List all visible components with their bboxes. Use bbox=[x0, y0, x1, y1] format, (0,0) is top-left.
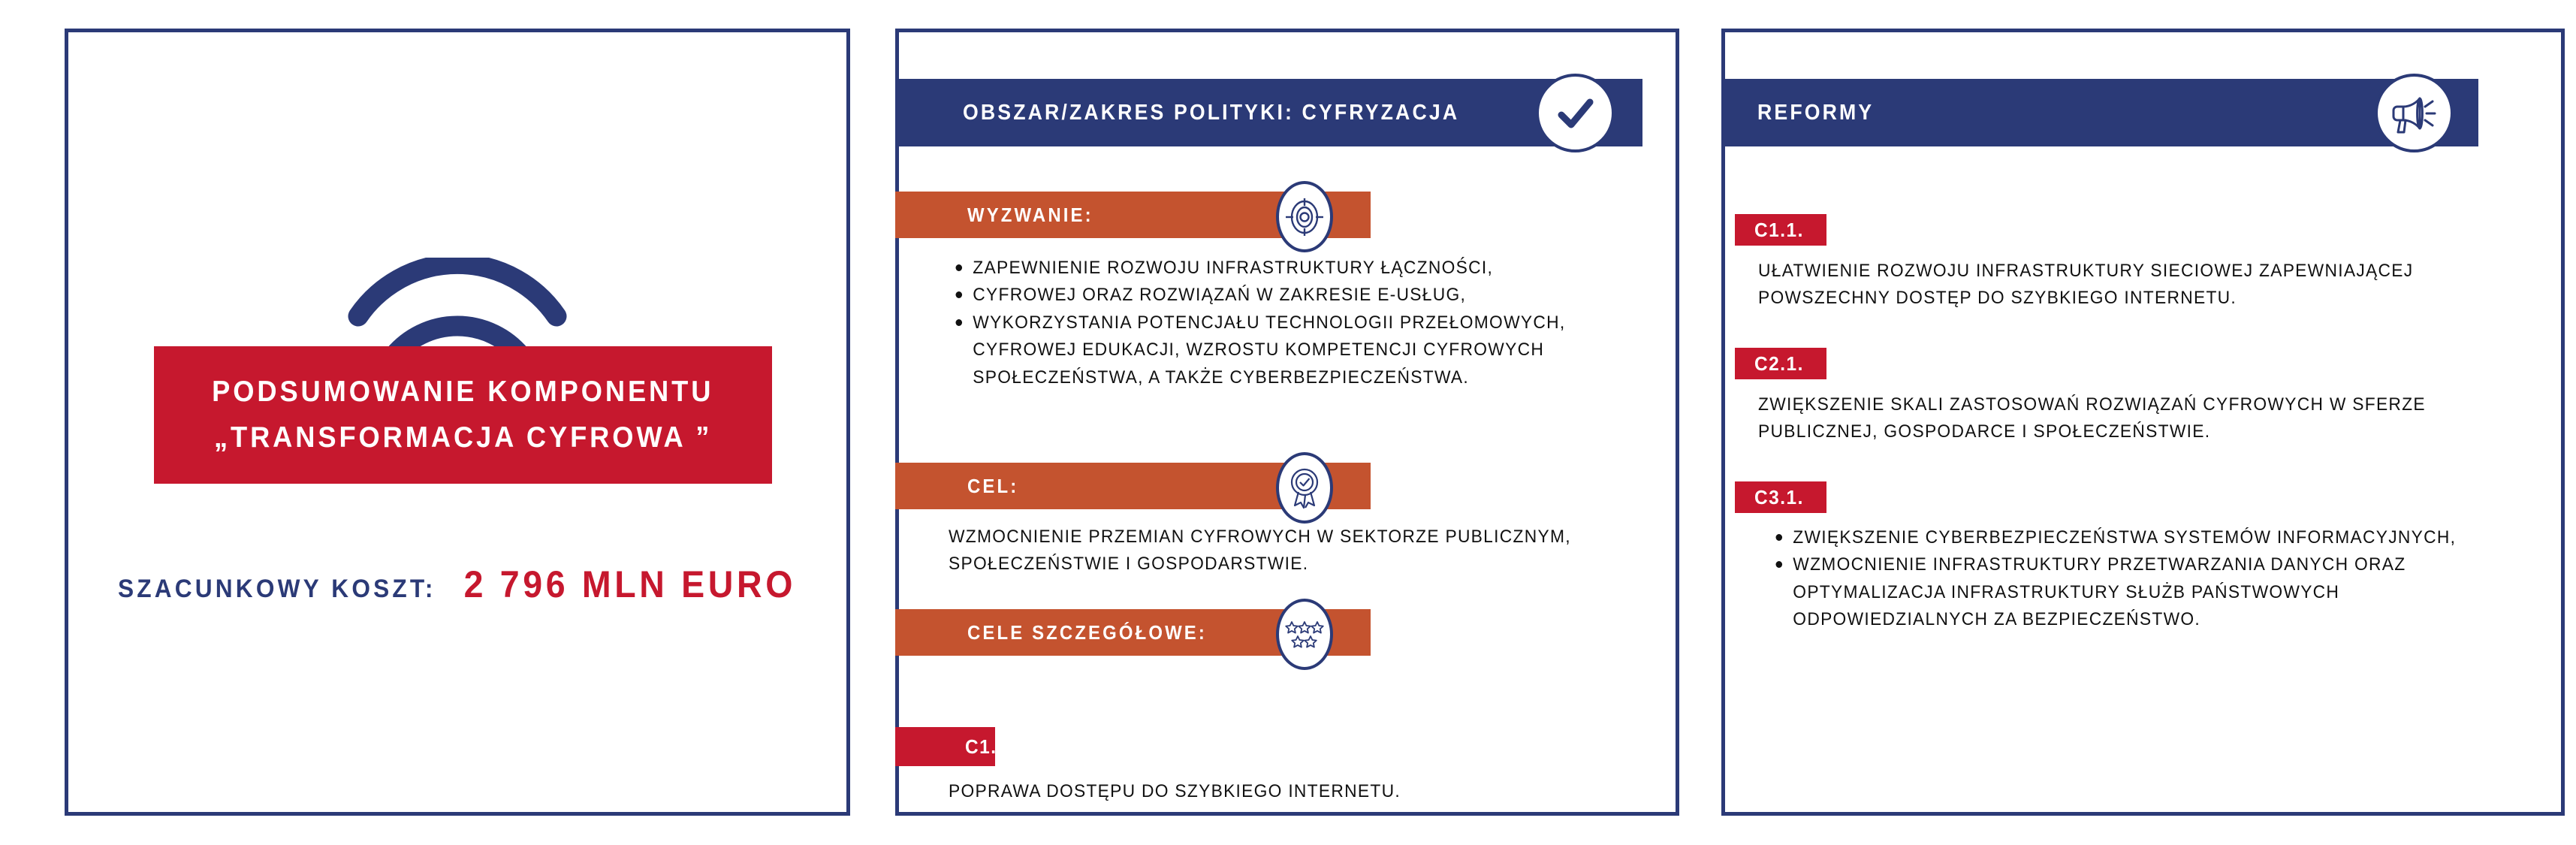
challenge-label: WYZWANIE: bbox=[967, 204, 1093, 227]
reforms-header-bar: REFORMY bbox=[1721, 79, 2478, 146]
banner-line-2: „TRANSFORMACJA CYFROWA ” bbox=[214, 415, 712, 460]
infographic-canvas: PODSUMOWANIE KOMPONENTU „TRANSFORMACJA C… bbox=[0, 0, 2576, 845]
panel-reforms: REFORMY C1.1. UŁATWIENIE ROZWOJU INFRAST… bbox=[1721, 29, 2565, 816]
reforms-header-title: REFORMY bbox=[1757, 101, 1874, 125]
checkmark-circle-icon bbox=[1536, 74, 1615, 152]
estimated-cost-block: SZACUNKOWY KOSZT: 2 796 MLN EURO bbox=[68, 555, 846, 606]
megaphone-icon bbox=[2375, 74, 2454, 152]
goal-label: CEL: bbox=[967, 475, 1018, 498]
panel-component-summary: PODSUMOWANIE KOMPONENTU „TRANSFORMACJA C… bbox=[65, 29, 850, 816]
cost-label: SZACUNKOWY KOSZT: bbox=[118, 575, 436, 604]
banner-line-1: PODSUMOWANIE KOMPONENTU bbox=[212, 370, 713, 415]
list-item: ZAPEWNIENIE ROZWOJU INFRASTRUKTURY ŁĄCZN… bbox=[973, 255, 1576, 282]
list-item: ZWIĘKSZENIE CYBERBEZPIECZEŃSTWA SYSTEMÓW… bbox=[1793, 524, 2482, 551]
list-item: WZMOCNIENIE INFRASTRUKTURY PRZETWARZANIA… bbox=[1793, 551, 2482, 633]
reform-bullets-c31: ZWIĘKSZENIE CYBERBEZPIECZEŃSTWA SYSTEMÓW… bbox=[1769, 524, 2482, 634]
reform-text-c21: ZWIĘKSZENIE SKALI ZASTOSOWAŃ ROZWIĄZAŃ C… bbox=[1758, 391, 2496, 446]
specific-goal-text-c1: POPRAWA DOSTĘPU DO SZYBKIEGO INTERNETU. bbox=[949, 778, 1591, 805]
target-icon bbox=[1276, 181, 1333, 252]
goal-text: WZMOCNIENIE PRZEMIAN CYFROWYCH W SEKTORZ… bbox=[949, 524, 1591, 578]
challenge-bullets: ZAPEWNIENIE ROZWOJU INFRASTRUKTURY ŁĄCZN… bbox=[949, 255, 1576, 391]
reform-text-c11: UŁATWIENIE ROZWOJU INFRASTRUKTURY SIECIO… bbox=[1758, 258, 2486, 312]
reform-badge-c21: C2.1. bbox=[1735, 348, 1826, 379]
reform-badge-c31: C3.1. bbox=[1735, 481, 1826, 513]
badge-label: C1. bbox=[965, 735, 997, 759]
list-item: WYKORZYSTANIA POTENCJAŁU TECHNOLOGII PRZ… bbox=[973, 309, 1576, 391]
cost-value: 2 796 MLN EURO bbox=[464, 563, 796, 606]
policy-header-title: OBSZAR/ZAKRES POLITYKI: CYFRYZACJA bbox=[963, 101, 1459, 125]
badge-label: C2.1. bbox=[1754, 352, 1804, 376]
badge-label: C3.1. bbox=[1754, 486, 1804, 509]
badge-label: C1.1. bbox=[1754, 219, 1804, 242]
panel-policy-area: OBSZAR/ZAKRES POLITYKI: CYFRYZACJA WYZWA… bbox=[895, 29, 1679, 816]
list-item: CYFROWEJ ORAZ ROZWIĄZAŃ W ZAKRESIE E-USŁ… bbox=[973, 282, 1576, 309]
five-stars-icon bbox=[1276, 599, 1333, 670]
summary-red-banner: PODSUMOWANIE KOMPONENTU „TRANSFORMACJA C… bbox=[154, 346, 772, 484]
award-ribbon-icon bbox=[1276, 452, 1333, 524]
reform-badge-c11: C1.1. bbox=[1735, 214, 1826, 246]
specific-goals-label: CELE SZCZEGÓŁOWE: bbox=[967, 621, 1207, 644]
specific-goal-badge-c1: C1. bbox=[895, 727, 995, 766]
policy-header-bar: OBSZAR/ZAKRES POLITYKI: CYFRYZACJA bbox=[895, 79, 1642, 146]
